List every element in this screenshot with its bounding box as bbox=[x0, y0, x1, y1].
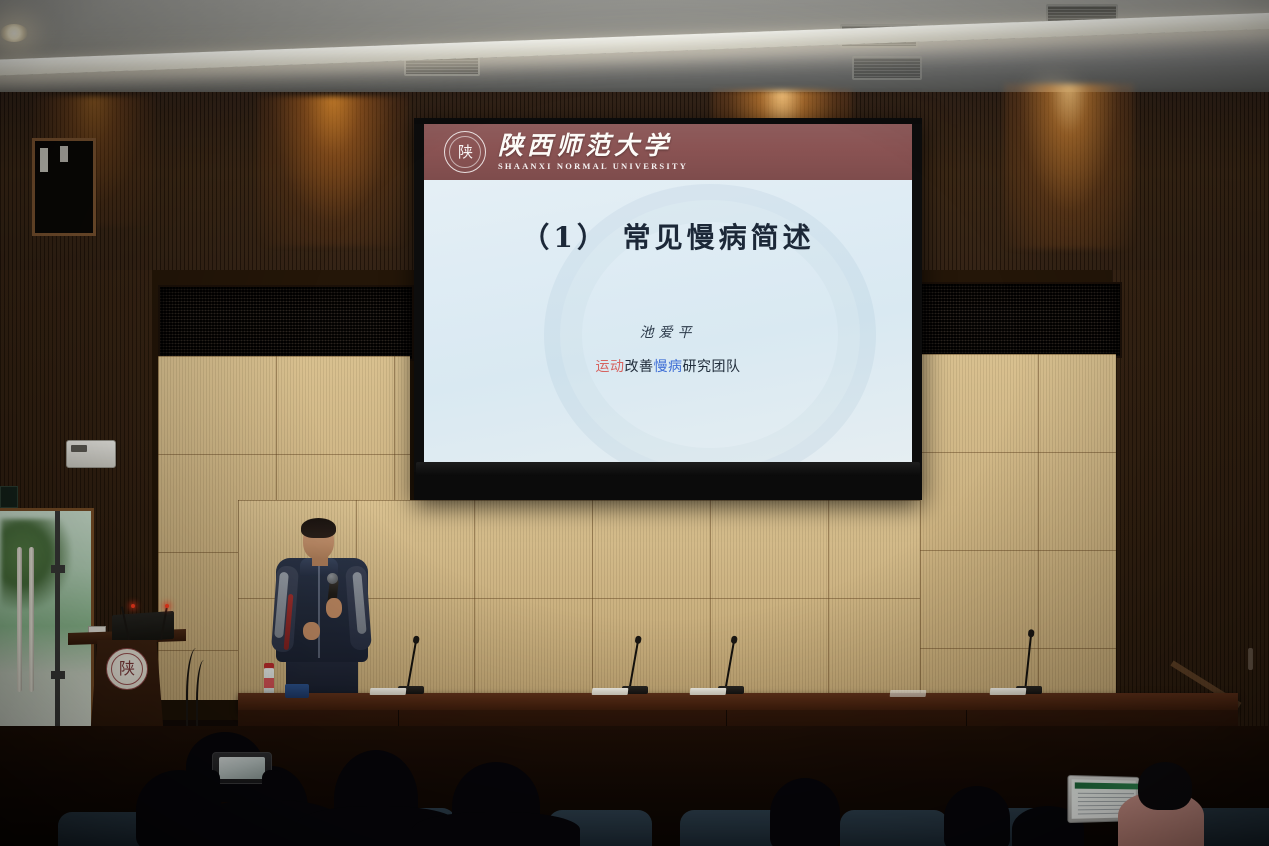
jacket-zipper bbox=[318, 566, 320, 658]
screen-frame-left bbox=[414, 124, 424, 472]
mic-indicator-led bbox=[165, 604, 169, 608]
blue-equipment-box bbox=[285, 684, 309, 698]
projection-screen: 陕 陕西师范大学 SHAANXI NORMAL UNIVERSITY （1） 常… bbox=[414, 118, 922, 500]
presenter-right-hand bbox=[326, 598, 342, 618]
mic-indicator-led bbox=[131, 604, 135, 608]
podium-seal-character: 陕 bbox=[119, 661, 135, 677]
wall-washer-glow bbox=[1004, 84, 1134, 249]
name-card-holder bbox=[690, 688, 727, 695]
podium-seal-icon: 陕 bbox=[106, 648, 148, 690]
seal-character: 陕 bbox=[458, 145, 472, 160]
door-mullion bbox=[51, 565, 65, 573]
slide-author: 池爱平 bbox=[424, 322, 912, 342]
door-mullion bbox=[51, 671, 65, 679]
slide-surface: 陕 陕西师范大学 SHAANXI NORMAL UNIVERSITY （1） 常… bbox=[424, 124, 912, 472]
team-line-segment: 运动 bbox=[596, 359, 625, 375]
recess-light-reflection bbox=[40, 148, 48, 172]
wall-washer-glow bbox=[258, 96, 408, 246]
right-dark-wood-column bbox=[1112, 270, 1269, 730]
water-bottle-label bbox=[264, 678, 274, 688]
presenter-left-hand bbox=[303, 622, 320, 640]
raised-hand-silhouette bbox=[200, 770, 220, 810]
name-card-holder bbox=[890, 690, 927, 697]
name-card-holder bbox=[370, 688, 407, 695]
stair-rail-post bbox=[1248, 648, 1253, 670]
university-name-cn: 陕西师范大学 bbox=[498, 133, 688, 159]
slide-title: （1） 常见慢病简述 bbox=[424, 216, 912, 256]
university-name-en: SHAANXI NORMAL UNIVERSITY bbox=[498, 161, 688, 171]
audience-member-head bbox=[1138, 762, 1192, 810]
presenter-hair bbox=[301, 518, 336, 538]
light-wood-panel-right bbox=[920, 354, 1116, 700]
raised-hand-silhouette bbox=[262, 770, 282, 810]
audience-member-head bbox=[770, 778, 840, 846]
acoustic-panel-left bbox=[158, 285, 414, 361]
slide-team-line: 运动改善慢病研究团队 bbox=[424, 356, 912, 376]
laptop-app-titlebar bbox=[1075, 782, 1139, 789]
team-line-segment: 慢病 bbox=[654, 359, 683, 375]
door-access-sensor[interactable] bbox=[0, 486, 18, 508]
university-name-block: 陕西师范大学 SHAANXI NORMAL UNIVERSITY bbox=[498, 133, 688, 171]
university-seal-icon: 陕 bbox=[444, 131, 486, 173]
acoustic-panel-right bbox=[918, 282, 1122, 358]
outside-foliage bbox=[1, 519, 71, 609]
lecture-hall-scene: 陕 陕西师范大学 SHAANXI NORMAL UNIVERSITY （1） 常… bbox=[0, 0, 1269, 846]
panel-grid-lines bbox=[920, 354, 1116, 700]
door-handle[interactable] bbox=[29, 547, 34, 692]
team-line-segment: 改善 bbox=[625, 359, 654, 375]
door-handle[interactable] bbox=[17, 547, 22, 692]
name-card-holder bbox=[990, 688, 1027, 695]
phone-screen bbox=[219, 757, 265, 779]
recess-light-reflection bbox=[60, 146, 68, 162]
screen-frame-right bbox=[912, 124, 922, 472]
wall-mounted-control-panel[interactable] bbox=[66, 440, 116, 468]
screen-bottom-weight-bar bbox=[416, 462, 920, 476]
name-card-holder bbox=[592, 688, 629, 695]
slide-header-band: 陕 陕西师范大学 SHAANXI NORMAL UNIVERSITY bbox=[424, 124, 912, 180]
auditorium-seat bbox=[840, 810, 948, 846]
audience-member-head bbox=[944, 786, 1010, 846]
downlight bbox=[0, 24, 28, 42]
audience-member-shoulders bbox=[412, 812, 580, 846]
team-line-segment: 研究团队 bbox=[683, 359, 741, 375]
